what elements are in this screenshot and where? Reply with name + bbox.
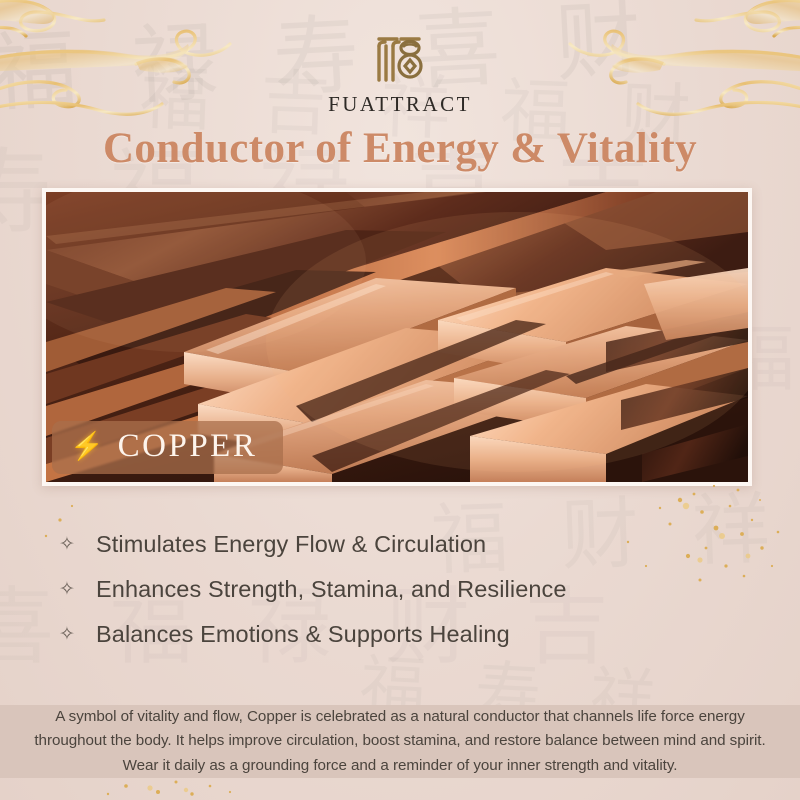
- list-item: ✧ Balances Emotions & Supports Healing: [58, 612, 740, 657]
- sparkle-diamond-icon: ✧: [58, 535, 76, 554]
- benefits-list: ✧ Stimulates Energy Flow & Circulation ✧…: [58, 522, 740, 657]
- footer-description: A symbol of vitality and flow, Copper is…: [25, 705, 775, 779]
- copper-badge-label: COPPER: [118, 428, 258, 465]
- list-item: ✧ Enhances Strength, Stamina, and Resili…: [58, 567, 740, 612]
- copper-badge: ⚡ COPPER: [52, 421, 283, 474]
- list-item: ✧ Stimulates Energy Flow & Circulation: [58, 522, 740, 567]
- lightning-bolt-icon: ⚡: [70, 433, 104, 460]
- benefit-text: Stimulates Energy Flow & Circulation: [96, 531, 486, 558]
- hero-image-frame: ⚡ COPPER: [42, 188, 752, 486]
- fuattract-monogram-icon: [371, 30, 429, 86]
- poster-canvas: 福 禄 寿 喜 财 福 吉 祥 福 财 寿 福 禄 喜 吉 福 财 祥 寿 喜 …: [0, 0, 800, 800]
- copper-bars-photo: ⚡ COPPER: [46, 192, 748, 482]
- brand-logo[interactable]: FUATTRACT: [0, 30, 800, 117]
- benefit-text: Enhances Strength, Stamina, and Resilien…: [96, 576, 567, 603]
- sparkle-diamond-icon: ✧: [58, 580, 76, 599]
- sparkle-diamond-icon: ✧: [58, 625, 76, 644]
- brand-wordmark: FUATTRACT: [328, 92, 472, 117]
- benefit-text: Balances Emotions & Supports Healing: [96, 621, 510, 648]
- page-title: Conductor of Energy & Vitality: [0, 124, 800, 173]
- footer-band: A symbol of vitality and flow, Copper is…: [0, 705, 800, 778]
